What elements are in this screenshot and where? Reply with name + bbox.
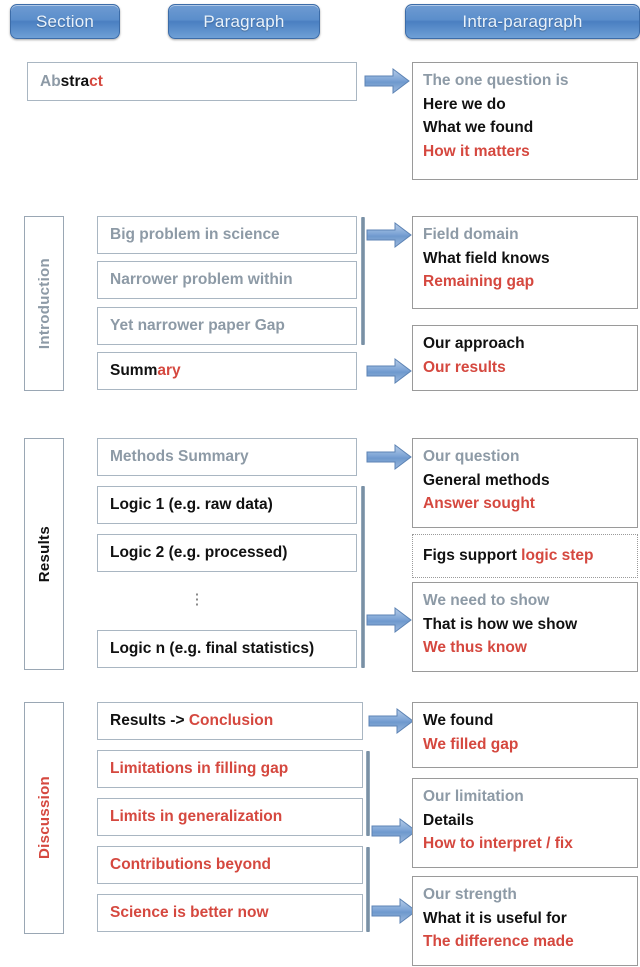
text-run: Our limitation: [423, 788, 524, 805]
group-bar-discussion-contributions: [366, 847, 370, 932]
paragraph-text: Limits in generalization: [110, 808, 282, 826]
text-run: The difference made: [423, 933, 574, 950]
paragraph-text: Yet narrower paper Gap: [110, 317, 285, 335]
intra-line: What we found: [423, 116, 637, 140]
intra-line: We need to show: [423, 589, 637, 613]
text-run: Limitations in filling gap: [110, 760, 288, 777]
paragraph-box-summary[interactable]: Summary: [97, 352, 357, 390]
intra-line: What field knows: [423, 247, 637, 271]
text-run: Figs support: [423, 547, 521, 564]
section-label-discussion: Discussion: [24, 702, 64, 934]
intra-line: Remaining gap: [423, 270, 637, 294]
text-run: General methods: [423, 472, 550, 489]
arrow-conclusion-to-intra: [368, 708, 414, 734]
text-run: We need to show: [423, 592, 549, 609]
intra-line: We thus know: [423, 636, 637, 660]
intra-box-abstract-intra[interactable]: The one question is Here we do What we f…: [412, 62, 638, 180]
paragraph-box-paper-gap[interactable]: Yet narrower paper Gap: [97, 307, 357, 345]
intra-line: The one question is: [423, 69, 637, 93]
intra-line: What it is useful for: [423, 907, 637, 931]
intra-line: Our limitation: [423, 785, 637, 809]
paragraph-box-narrower-problem[interactable]: Narrower problem within: [97, 261, 357, 299]
paragraph-box-limitations-gap[interactable]: Limitations in filling gap: [97, 750, 363, 788]
paragraph-box-science-better[interactable]: Science is better now: [97, 894, 363, 932]
paragraph-box-abstract[interactable]: Abstract: [27, 62, 357, 101]
paragraph-text: Results -> Conclusion: [110, 712, 273, 730]
intra-line: Our question: [423, 445, 637, 469]
text-run: Summ: [110, 362, 157, 379]
text-run: Logic 2 (e.g. processed): [110, 544, 287, 561]
section-label-results: Results: [24, 438, 64, 670]
intra-line: The difference made: [423, 930, 637, 954]
intra-box-intro-intra-1[interactable]: Field domain What field knows Remaining …: [412, 216, 638, 309]
intra-box-intro-intra-2[interactable]: Our approach Our results: [412, 325, 638, 391]
text-run: Big problem in science: [110, 226, 280, 243]
text-run: ct: [89, 73, 103, 90]
section-label-text: Introduction: [36, 258, 53, 349]
intra-line: We found: [423, 709, 637, 733]
paragraph-text: Logic n (e.g. final statistics): [110, 640, 314, 658]
text-run: Our question: [423, 448, 519, 465]
intra-line: Figs support logic step: [423, 544, 594, 568]
arrow-limitations-to-intra: [371, 818, 417, 844]
paragraph-box-contributions[interactable]: Contributions beyond: [97, 846, 363, 884]
text-run: Field domain: [423, 226, 519, 243]
text-run: Limits in generalization: [110, 808, 282, 825]
text-run: Logic n (e.g. final statistics): [110, 640, 314, 657]
group-bar-introduction: [361, 217, 365, 345]
section-label-introduction: Introduction: [24, 216, 64, 391]
text-run: What it is useful for: [423, 910, 567, 927]
intra-line: Our approach: [423, 332, 637, 356]
text-run: What field knows: [423, 250, 550, 267]
text-run: Conclusion: [189, 712, 273, 729]
text-run: Ab: [40, 73, 61, 90]
text-run: Results ->: [110, 712, 189, 729]
intra-box-disc-intra-3[interactable]: Our strength What it is useful for The d…: [412, 876, 638, 966]
text-run: Remaining gap: [423, 273, 534, 290]
intra-line: Our strength: [423, 883, 637, 907]
intra-line: General methods: [423, 469, 637, 493]
group-bar-discussion-limitations: [366, 751, 370, 836]
column-header-intra-paragraph[interactable]: Intra-paragraph: [405, 4, 640, 39]
text-run: We thus know: [423, 639, 527, 656]
paragraph-text: Limitations in filling gap: [110, 760, 288, 778]
intra-box-results-intra-2[interactable]: We need to show That is how we show We t…: [412, 582, 638, 672]
paragraph-box-results-conclusion[interactable]: Results -> Conclusion: [97, 702, 363, 740]
text-run: How to interpret / fix: [423, 835, 573, 852]
paragraph-box-logic-n[interactable]: Logic n (e.g. final statistics): [97, 630, 357, 668]
intra-line: Field domain: [423, 223, 637, 247]
paragraph-text: Logic 2 (e.g. processed): [110, 544, 287, 562]
paragraph-text: Narrower problem within: [110, 271, 293, 289]
arrow-logic-group-to-intra: [366, 607, 412, 633]
paragraph-text: Contributions beyond: [110, 856, 271, 874]
paragraph-text: Abstract: [40, 73, 103, 91]
intra-line: We filled gap: [423, 733, 637, 757]
text-run: Our results: [423, 359, 506, 376]
paragraph-box-logic-2[interactable]: Logic 2 (e.g. processed): [97, 534, 357, 572]
column-header-section[interactable]: Section: [10, 4, 120, 39]
paragraph-text: Science is better now: [110, 904, 269, 922]
intra-box-disc-intra-1[interactable]: We found We filled gap: [412, 702, 638, 768]
text-run: Logic 1 (e.g. raw data): [110, 496, 273, 513]
intra-line: Details: [423, 809, 637, 833]
section-label-text: Discussion: [36, 776, 53, 859]
paragraph-box-limits-general[interactable]: Limits in generalization: [97, 798, 363, 836]
intra-line: Here we do: [423, 93, 637, 117]
text-run: What we found: [423, 119, 533, 136]
paragraph-text: Methods Summary: [110, 448, 249, 466]
arrow-summary-to-intra: [366, 358, 412, 384]
text-run: Our approach: [423, 335, 525, 352]
text-run: Contributions beyond: [110, 856, 271, 873]
intra-line: Answer sought: [423, 492, 637, 516]
intra-box-results-intra-1[interactable]: Our question General methods Answer soug…: [412, 438, 638, 528]
text-run: Our strength: [423, 886, 517, 903]
section-label-text: Results: [36, 526, 53, 582]
paragraph-box-big-problem[interactable]: Big problem in science: [97, 216, 357, 254]
text-run: Narrower problem within: [110, 271, 293, 288]
intra-box-disc-intra-2[interactable]: Our limitation Details How to interpret …: [412, 778, 638, 868]
text-run: stra: [61, 73, 89, 90]
column-header-paragraph[interactable]: Paragraph: [168, 4, 320, 39]
text-run: Yet narrower paper Gap: [110, 317, 285, 334]
paragraph-text: Big problem in science: [110, 226, 280, 244]
intra-line: How to interpret / fix: [423, 832, 637, 856]
arrow-methods-to-intra: [366, 444, 412, 470]
text-run: That is how we show: [423, 616, 577, 633]
paragraph-text: Summary: [110, 362, 181, 380]
text-run: Science is better now: [110, 904, 269, 921]
arrow-contributions-to-intra: [371, 898, 417, 924]
intra-line: Our results: [423, 356, 637, 380]
text-run: Here we do: [423, 96, 506, 113]
paragraph-text: Logic 1 (e.g. raw data): [110, 496, 273, 514]
arrow-abstract-to-intra: [364, 68, 410, 94]
paragraph-box-logic-1[interactable]: Logic 1 (e.g. raw data): [97, 486, 357, 524]
text-run: Details: [423, 812, 474, 829]
text-run: Methods Summary: [110, 448, 249, 465]
intra-line: How it matters: [423, 140, 637, 164]
text-run: We found: [423, 712, 493, 729]
intra-box-results-intra-figs[interactable]: Figs support logic step: [412, 534, 638, 578]
intra-line: That is how we show: [423, 613, 637, 637]
arrow-intro-group-to-intra: [366, 222, 412, 248]
ellipsis-logic-steps: ⋮: [97, 592, 297, 607]
text-run: logic step: [521, 547, 593, 564]
paragraph-box-methods-summary[interactable]: Methods Summary: [97, 438, 357, 476]
group-bar-results: [361, 486, 365, 668]
text-run: We filled gap: [423, 736, 518, 753]
text-run: Answer sought: [423, 495, 535, 512]
text-run: The one question is: [423, 72, 569, 89]
text-run: ary: [157, 362, 180, 379]
text-run: How it matters: [423, 143, 530, 160]
